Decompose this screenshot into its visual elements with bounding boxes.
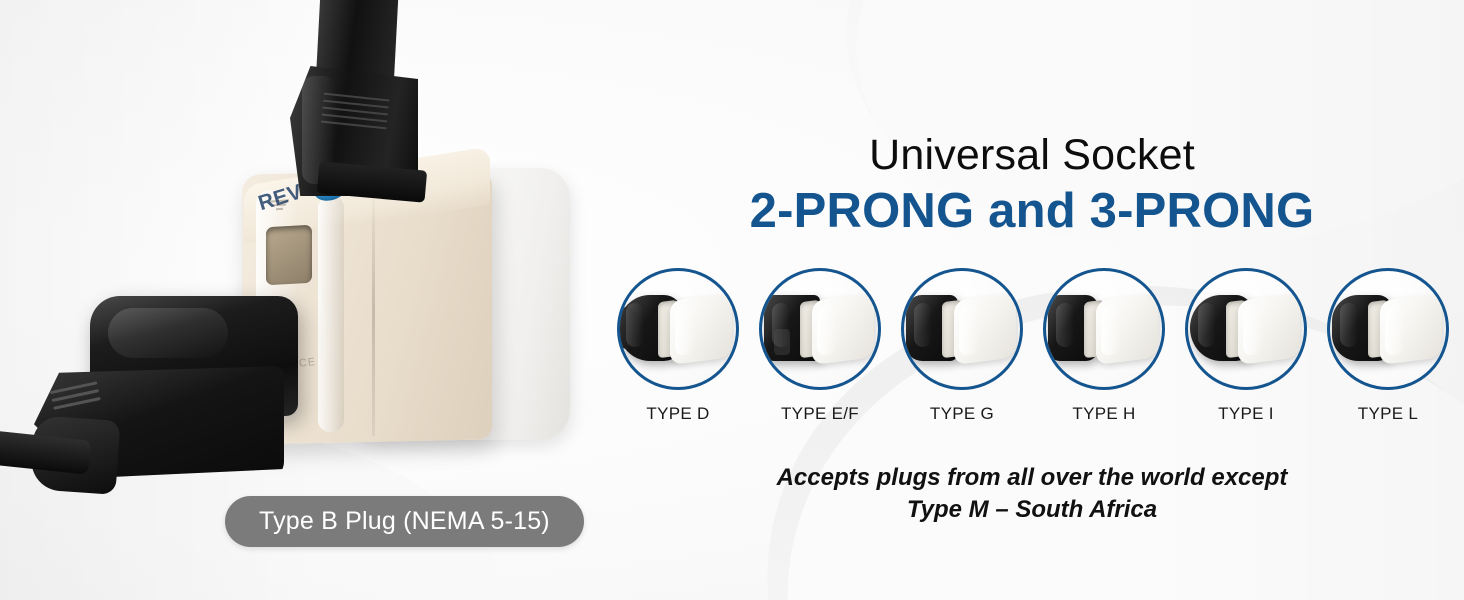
white-socket-shape	[670, 293, 732, 365]
plug-type-label: TYPE E/F	[781, 404, 859, 424]
plug-type-item-g: TYPE G	[900, 268, 1024, 424]
plug-type-icon-ef	[759, 268, 881, 390]
white-socket-shape	[1380, 293, 1442, 365]
plug-type-item-l: TYPE L	[1326, 268, 1450, 424]
plug-type-item-i: TYPE I	[1184, 268, 1308, 424]
plug-type-label: TYPE L	[1358, 404, 1418, 424]
plug-type-icon-g	[901, 268, 1023, 390]
plug-type-row: TYPE D TYPE E/F	[616, 268, 1450, 424]
type-b-plug-photo	[0, 282, 330, 522]
top-black-plug	[284, 0, 424, 216]
product-banner: REV CE Type B Plug (NEMA 5-15) Universal…	[0, 0, 1464, 600]
compatibility-caption: Accepts plugs from all over the world ex…	[600, 462, 1464, 525]
white-socket-shape	[812, 293, 874, 365]
marketing-copy-panel: Universal Socket 2-PRONG and 3-PRONG TYP…	[600, 0, 1464, 600]
plug-type-icon-l	[1327, 268, 1449, 390]
plug-type-icon-d	[617, 268, 739, 390]
headline-primary: Universal Socket	[600, 134, 1464, 177]
white-socket-shape	[1238, 293, 1300, 365]
left-plug-highlight	[108, 308, 228, 358]
caption-line-1: Accepts plugs from all over the world ex…	[600, 462, 1464, 494]
plug-type-item-h: TYPE H	[1042, 268, 1166, 424]
caption-line-2: Type M – South Africa	[600, 494, 1464, 526]
plug-type-label: TYPE G	[930, 404, 994, 424]
headline-secondary: 2-PRONG and 3-PRONG	[600, 184, 1464, 240]
product-photo: REV CE Type B Plug (NEMA 5-15)	[0, 0, 600, 600]
plug-type-icon-h	[1043, 268, 1165, 390]
plug-type-label: TYPE H	[1072, 404, 1135, 424]
white-socket-shape	[954, 293, 1016, 365]
white-socket-shape	[1096, 293, 1158, 365]
socket-seam	[372, 186, 375, 436]
socket-outlet-hole	[266, 225, 312, 285]
plug-type-item-ef: TYPE E/F	[758, 268, 882, 424]
plug-type-item-d: TYPE D	[616, 268, 740, 424]
plug-type-icon-i	[1185, 268, 1307, 390]
plug-type-label: TYPE I	[1218, 404, 1274, 424]
plug-type-label: TYPE D	[646, 404, 709, 424]
type-b-plug-badge: Type B Plug (NEMA 5-15)	[225, 496, 584, 547]
